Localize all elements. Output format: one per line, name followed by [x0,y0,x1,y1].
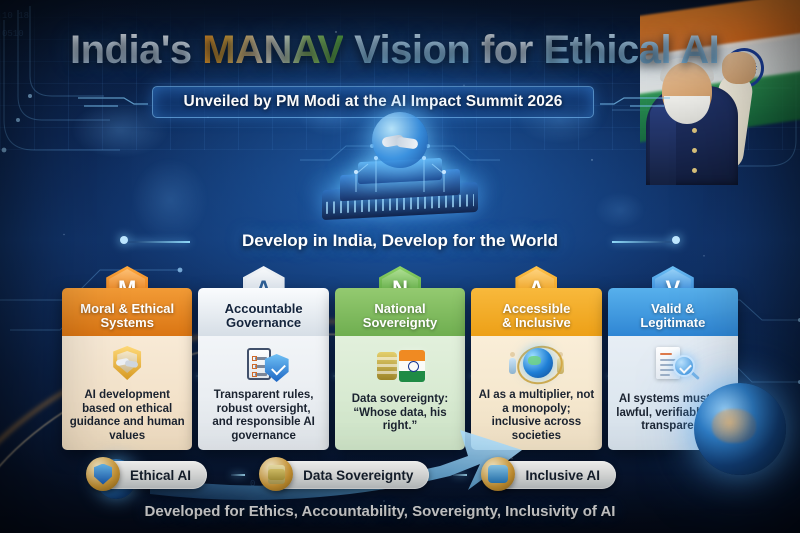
keyword-pills-row: Ethical AI Data Sovereignty Inclusive AI [96,460,616,490]
pill-connector [453,474,467,476]
document-magnifier-check-icon [644,344,702,388]
clipboard-checklist-shield-icon [235,344,293,384]
pillar-title-line2: Governance [225,316,303,330]
subtitle-right-decoration [600,96,670,108]
pill-label: Data Sovereignty [303,468,413,483]
pillar-title-line2: Sovereignty [363,316,437,330]
footer-text: Developed for Ethics, Accountability, So… [100,498,660,524]
infographic-canvas: 10 180510 11 0 0 10 1 1 0 0 1 1 0 0 1 1 … [0,0,800,533]
pillar-title-line1: National [363,302,437,316]
page-title: India's MANAV Vision for Ethical AI [70,28,690,80]
pillar-title-line1: Accessible [502,302,571,316]
pillar-title-line1: Moral & Ethical [80,302,174,316]
svg-text:10 18: 10 18 [2,11,29,21]
tagline-left-dot [120,236,128,244]
database-icon [259,457,293,491]
title-word-for: for [481,28,533,72]
title-word-manav: MANAV [202,28,343,72]
pill-label: Ethical AI [130,468,191,483]
vest-button [692,148,697,153]
raised-fist [722,52,756,84]
handshake-shield-icon [98,344,156,384]
title-word-ethical-ai: Ethical AI [543,28,719,72]
pillar-title-line2: Legitimate [640,316,705,330]
subtitle-left-decoration [78,96,148,108]
pill-label: Inclusive AI [525,468,600,483]
tagline-right-line [612,241,674,243]
hero-tagline: Develop in India, Develop for the World [190,228,610,254]
database-india-flag-icon [371,344,429,388]
pill-connector [231,474,245,476]
earth-globe-icon [694,383,786,475]
vest-button [692,168,697,173]
tagline-right-dot [672,236,680,244]
ai-chip-hero-graphic [300,110,500,230]
tagline-left-line [128,241,190,243]
pill-data-sovereignty[interactable]: Data Sovereignty [269,461,429,489]
svg-text:0510: 0510 [2,29,24,39]
shield-globe-icon [86,457,120,491]
pill-inclusive-ai[interactable]: Inclusive AI [491,461,616,489]
title-word-vision: Vision [354,28,470,72]
pillar-header-valid: Valid & Legitimate [608,288,738,336]
vest-button [692,128,697,133]
pillar-title-line1: Accountable [225,302,303,316]
pill-ethical-ai[interactable]: Ethical AI [96,461,207,489]
title-word-indias: India's [70,28,192,72]
pillar-header-national: National Sovereignty [335,288,465,336]
handshake-globe-icon [372,112,428,168]
pillar-title-line2: Systems [80,316,174,330]
globe-people-icon [507,344,565,384]
pillar-header-accessible: Accessible & Inclusive [471,288,601,336]
pillar-header-accountable: Accountable Governance [198,288,328,336]
pillar-title-line2: & Inclusive [502,316,571,330]
pillar-title-line1: Valid & [640,302,705,316]
people-gear-icon [481,457,515,491]
handshake-right-hand [395,137,418,150]
pillar-header-moral: Moral & Ethical Systems [62,288,192,336]
